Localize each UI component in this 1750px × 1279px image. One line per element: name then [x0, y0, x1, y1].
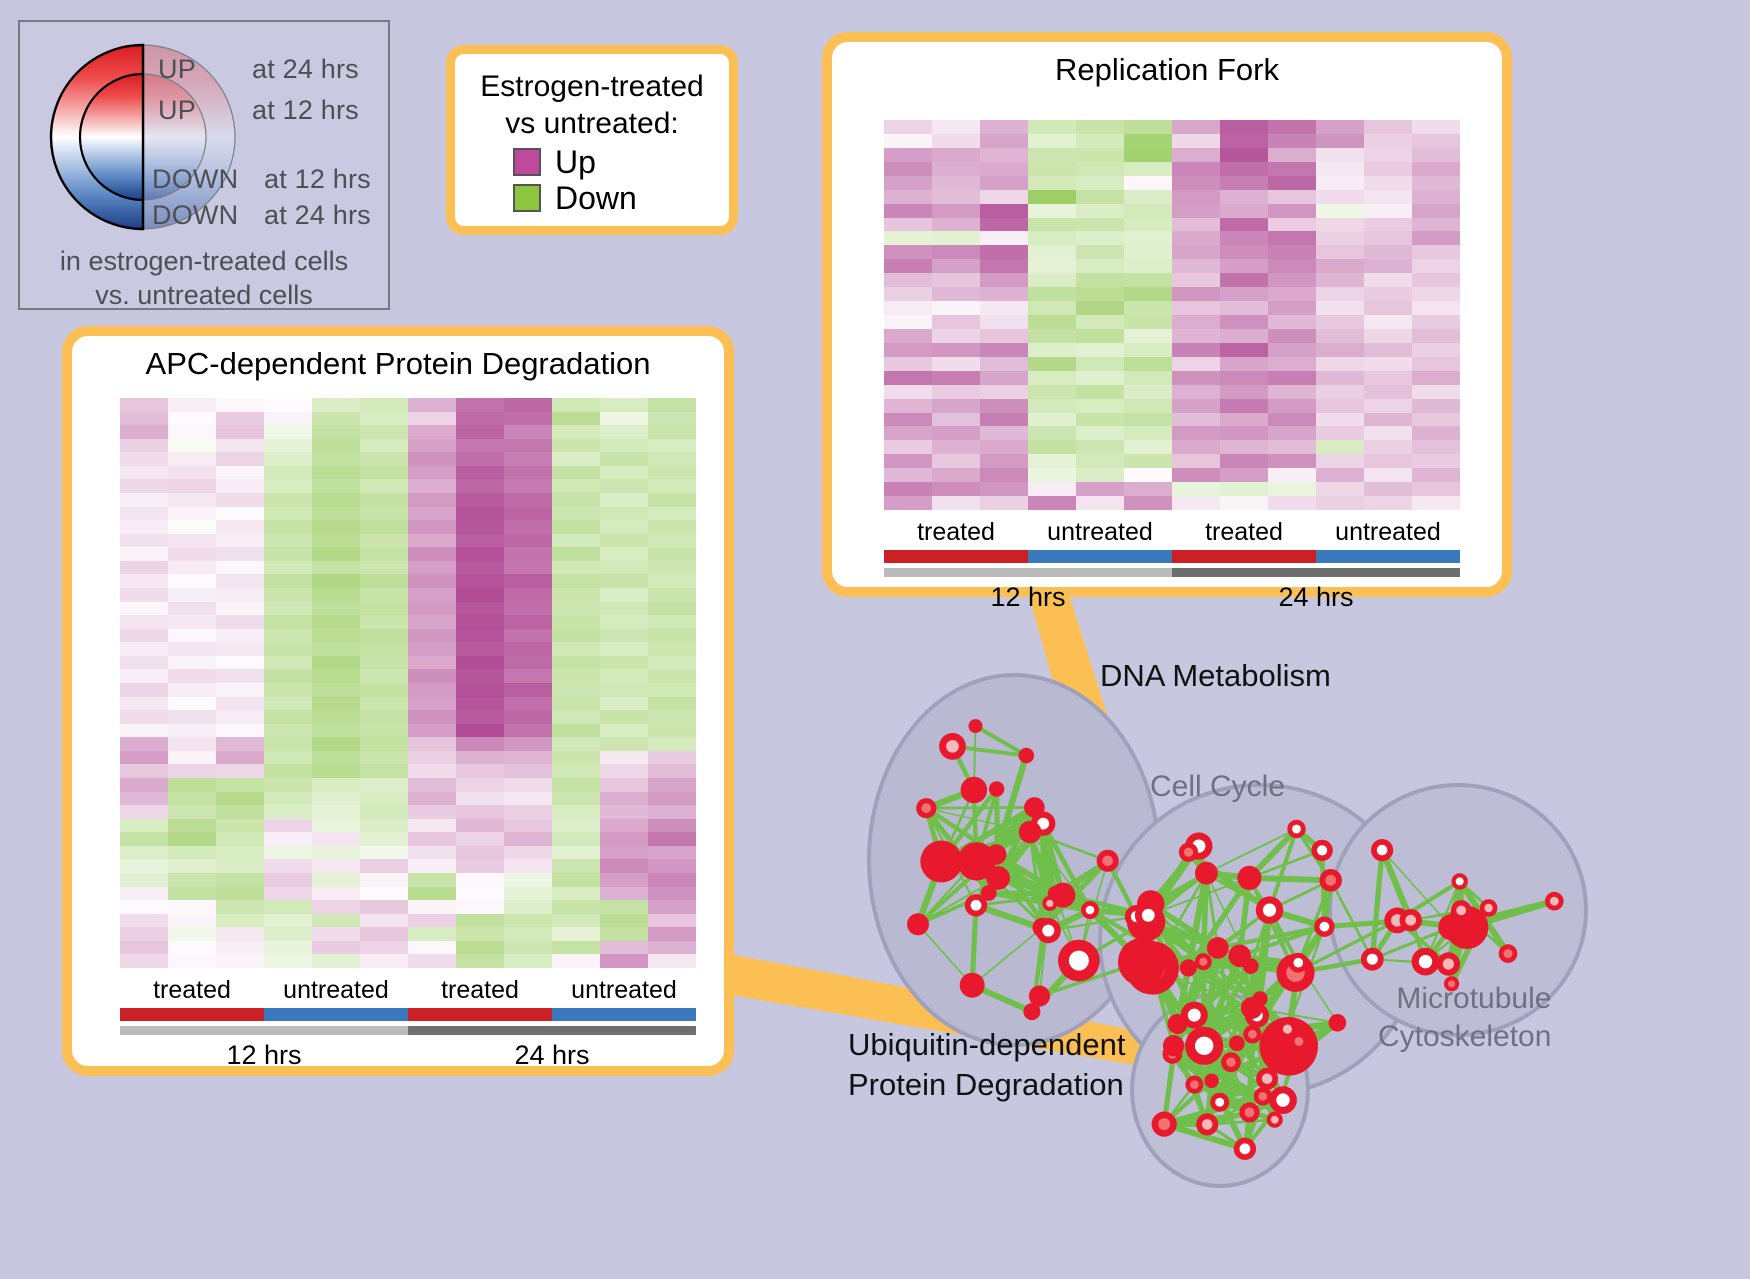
wheel-time-up-12: at 12 hrs	[252, 95, 359, 126]
apc-bar-untreated-24	[552, 1008, 696, 1021]
down-label: Down	[555, 182, 637, 214]
wheel-time-down-12: at 12 hrs	[264, 164, 371, 195]
rf-group-label-0: treated	[884, 518, 1028, 547]
updown-heading-line2: vs untreated:	[465, 105, 719, 142]
apc-bar-untreated-12	[264, 1008, 408, 1021]
apc-group-label-3: untreated	[552, 976, 696, 1005]
cluster-label-ubiquitin-degradation: Ubiquitin-dependent Protein Degradation	[848, 1025, 1126, 1105]
apc-time-label-24: 24 hrs	[408, 1040, 696, 1071]
rf-group-label-3: untreated	[1316, 518, 1460, 547]
rf-timebar-12	[884, 568, 1172, 577]
replication-fork-title: Replication Fork	[832, 52, 1502, 88]
replication-fork-time-labels: 12 hrs 24 hrs	[884, 582, 1460, 613]
wheel-time-down-24: at 24 hrs	[264, 200, 371, 231]
replication-fork-time-bar	[884, 568, 1460, 577]
wheel-label-down-12: DOWN	[152, 164, 238, 195]
rf-group-label-1: untreated	[1028, 518, 1172, 547]
apc-group-label-1: untreated	[264, 976, 408, 1005]
apc-group-labels: treated untreated treated untreated	[120, 976, 696, 1005]
apc-time-label-12: 12 hrs	[120, 1040, 408, 1071]
wheel-caption-line2: vs. untreated cells	[20, 278, 388, 312]
rf-timebar-24	[1172, 568, 1460, 577]
apc-timebar-12	[120, 1026, 408, 1035]
apc-title: APC-dependent Protein Degradation	[72, 346, 724, 382]
apc-bar-treated-12	[120, 1008, 264, 1021]
up-swatch-icon	[513, 148, 541, 176]
replication-fork-treatment-bar	[884, 550, 1460, 563]
rf-bar-untreated-24	[1316, 550, 1460, 563]
wheel-label-up-24: UP	[158, 54, 196, 85]
cluster-label-dna-metabolism: DNA Metabolism	[1100, 658, 1331, 694]
panel-apc-degradation: APC-dependent Protein Degradation treate…	[62, 326, 734, 1076]
wheel-label-up-12: UP	[158, 95, 196, 126]
cluster-label-microtubule-cytoskeleton: Microtubule Cytoskeleton	[1378, 980, 1551, 1056]
panel-replication-fork: Replication Fork treated untreated treat…	[822, 32, 1512, 597]
rf-group-label-2: treated	[1172, 518, 1316, 547]
colorwheel-legend-box: UP at 24 hrs UP at 12 hrs DOWN at 12 hrs…	[18, 20, 390, 310]
rf-bar-untreated-12	[1028, 550, 1172, 563]
apc-timebar-24	[408, 1026, 696, 1035]
wheel-caption-line1: in estrogen-treated cells	[20, 244, 388, 278]
rf-time-label-24: 24 hrs	[1172, 582, 1460, 613]
legend-item-down: Down	[513, 182, 719, 214]
rf-bar-treated-24	[1172, 550, 1316, 563]
replication-fork-heatmap	[884, 120, 1460, 510]
replication-fork-group-labels: treated untreated treated untreated	[884, 518, 1460, 547]
apc-heatmap	[120, 398, 696, 968]
apc-group-label-0: treated	[120, 976, 264, 1005]
figure-canvas: UP at 24 hrs UP at 12 hrs DOWN at 12 hrs…	[0, 0, 1750, 1279]
pathway-network: DNA Metabolism Cell Cycle Microtubule Cy…	[790, 610, 1750, 1279]
legend-item-up: Up	[513, 146, 719, 178]
down-swatch-icon	[513, 184, 541, 212]
updown-heading-line1: Estrogen-treated	[465, 68, 719, 105]
apc-bar-treated-24	[408, 1008, 552, 1021]
apc-treatment-bar	[120, 1008, 696, 1021]
apc-group-label-2: treated	[408, 976, 552, 1005]
rf-bar-treated-12	[884, 550, 1028, 563]
apc-time-labels: 12 hrs 24 hrs	[120, 1040, 696, 1071]
cluster-label-cell-cycle: Cell Cycle	[1150, 770, 1285, 804]
updown-legend-card: Estrogen-treated vs untreated: Up Down	[446, 45, 738, 235]
wheel-label-down-24: DOWN	[152, 200, 238, 231]
up-label: Up	[555, 146, 596, 178]
rf-time-label-12: 12 hrs	[884, 582, 1172, 613]
network-svg	[790, 610, 1750, 1279]
wheel-time-up-24: at 24 hrs	[252, 54, 359, 85]
apc-time-bar	[120, 1026, 696, 1035]
